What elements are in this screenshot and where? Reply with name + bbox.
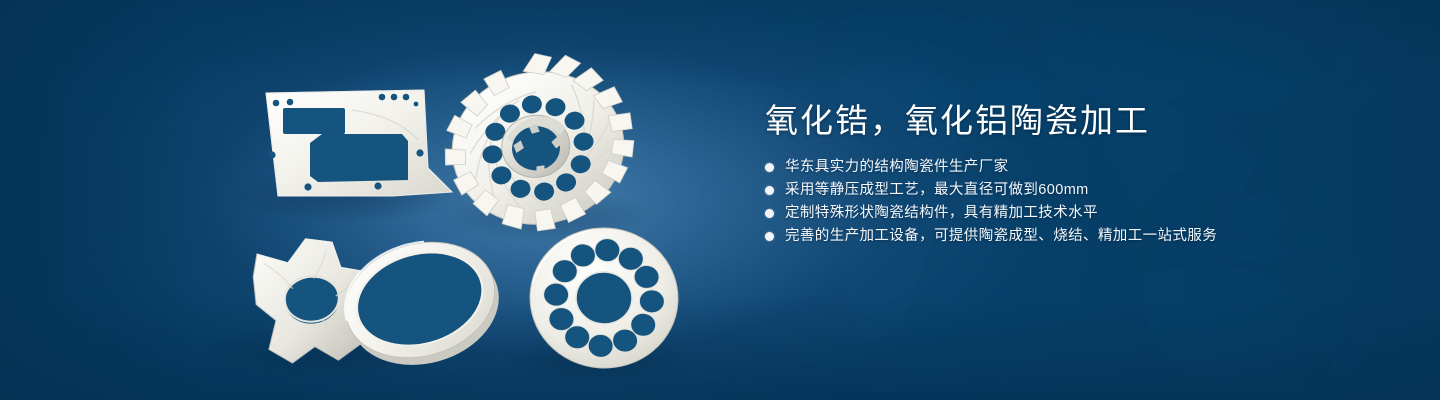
page-title: 氧化锆，氧化铝陶瓷加工 <box>765 100 1385 141</box>
list-item: 定制特殊形状陶瓷结构件，具有精加工技术水平 <box>765 205 1385 222</box>
product-photo-group <box>0 0 760 400</box>
feature-text: 完善的生产加工设备，可提供陶瓷成型、烧结、精加工一站式服务 <box>785 228 1217 245</box>
feature-list: 华东具实力的结构陶瓷件生产厂家 采用等静压成型工艺，最大直径可做到600mm 定… <box>765 159 1385 245</box>
feature-text: 定制特殊形状陶瓷结构件，具有精加工技术水平 <box>785 205 1098 222</box>
promo-banner: 氧化锆，氧化铝陶瓷加工 华东具实力的结构陶瓷件生产厂家 采用等静压成型工艺，最大… <box>0 0 1440 400</box>
ceramic-mounting-plate <box>266 90 452 196</box>
bullet-dot-icon <box>765 209 774 218</box>
list-item: 完善的生产加工设备，可提供陶瓷成型、烧结、精加工一站式服务 <box>765 228 1385 245</box>
bullet-dot-icon <box>765 186 774 195</box>
feature-text: 华东具实力的结构陶瓷件生产厂家 <box>785 159 1009 176</box>
feature-text: 采用等静压成型工艺，最大直径可做到600mm <box>785 182 1089 199</box>
copy-block: 氧化锆，氧化铝陶瓷加工 华东具实力的结构陶瓷件生产厂家 采用等静压成型工艺，最大… <box>765 100 1385 251</box>
list-item: 采用等静压成型工艺，最大直径可做到600mm <box>765 182 1385 199</box>
bullet-dot-icon <box>765 163 774 172</box>
list-item: 华东具实力的结构陶瓷件生产厂家 <box>765 159 1385 176</box>
bullet-dot-icon <box>765 232 774 241</box>
